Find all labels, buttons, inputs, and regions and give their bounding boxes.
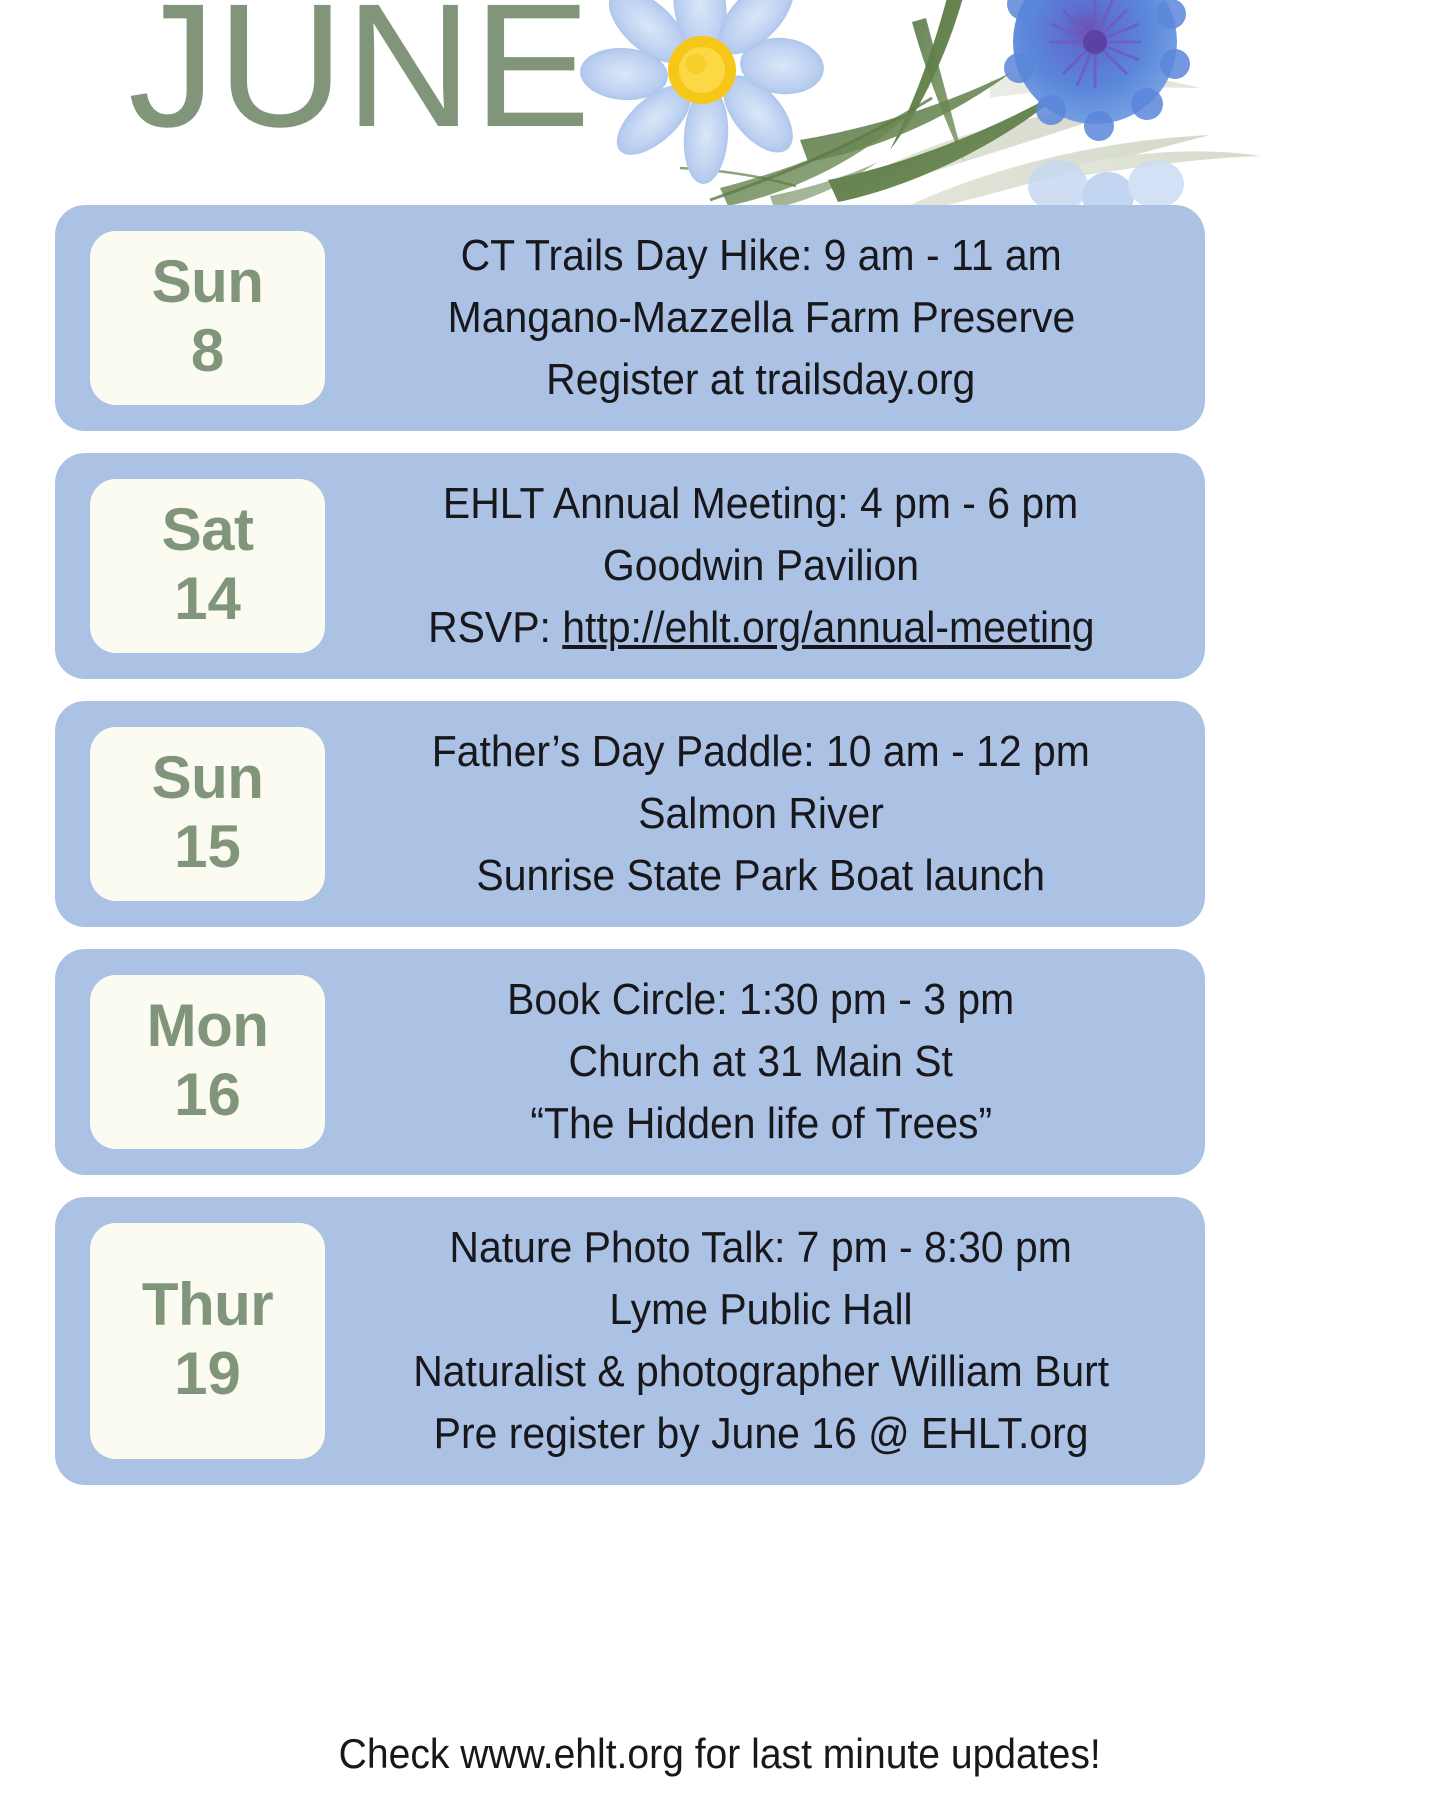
event-details: Father’s Day Paddle: 10 am - 12 pm Salmo…	[325, 715, 1205, 913]
event-detail-line: Nature Photo Talk: 7 pm - 8:30 pm	[450, 1217, 1072, 1279]
event-row[interactable]: Thur 19 Nature Photo Talk: 7 pm - 8:30 p…	[55, 1197, 1205, 1485]
day-of-week: Mon	[147, 992, 269, 1060]
event-detail-line-with-link: RSVP: http://ehlt.org/annual-meeting	[428, 597, 1094, 659]
event-detail-line: Church at 31 Main St	[569, 1031, 953, 1093]
day-of-week: Sat	[162, 496, 254, 564]
day-of-week: Sun	[152, 744, 264, 812]
date-card: Sun 8	[90, 231, 325, 405]
flyer-header: JUNE	[0, 0, 1440, 205]
event-detail-line: “The Hidden life of Trees”	[530, 1093, 992, 1155]
event-detail-line: Sunrise State Park Boat launch	[477, 845, 1046, 907]
event-row[interactable]: Sat 14 EHLT Annual Meeting: 4 pm - 6 pm …	[55, 453, 1205, 679]
event-row[interactable]: Mon 16 Book Circle: 1:30 pm - 3 pm Churc…	[55, 949, 1205, 1175]
calendar-flyer: JUNE	[0, 0, 1440, 1800]
day-number: 19	[174, 1339, 241, 1409]
day-of-week: Sun	[152, 248, 264, 316]
page-title: JUNE	[128, 0, 592, 154]
event-detail-line: Salmon River	[638, 783, 884, 845]
event-detail-line: Goodwin Pavilion	[603, 535, 919, 597]
day-number: 14	[174, 564, 241, 634]
event-detail-line: CT Trails Day Hike: 9 am - 11 am	[460, 225, 1061, 287]
event-detail-line: Register at trailsday.org	[546, 349, 975, 411]
cornflower-flower	[1004, 0, 1190, 141]
event-detail-line: Book Circle: 1:30 pm - 3 pm	[507, 969, 1014, 1031]
event-list: Sun 8 CT Trails Day Hike: 9 am - 11 am M…	[0, 205, 1440, 1507]
pale-leaves	[860, 73, 1260, 212]
day-of-week: Thur	[142, 1271, 273, 1339]
rsvp-label: RSVP:	[428, 603, 562, 652]
date-card: Sat 14	[90, 479, 325, 653]
blue-daisy-flower	[578, 0, 826, 185]
event-detail-line: Pre register by June 16 @ EHLT.org	[434, 1403, 1089, 1465]
day-number: 16	[174, 1060, 241, 1130]
event-detail-line: Father’s Day Paddle: 10 am - 12 pm	[432, 721, 1090, 783]
event-row[interactable]: Sun 15 Father’s Day Paddle: 10 am - 12 p…	[55, 701, 1205, 927]
event-detail-line: Mangano-Mazzella Farm Preserve	[447, 287, 1075, 349]
day-number: 8	[191, 316, 224, 386]
event-details: CT Trails Day Hike: 9 am - 11 am Mangano…	[325, 219, 1205, 417]
date-card: Mon 16	[90, 975, 325, 1149]
event-detail-line: EHLT Annual Meeting: 4 pm - 6 pm	[443, 473, 1078, 535]
footer: Check www.ehlt.org for last minute updat…	[0, 1726, 1440, 1782]
event-row[interactable]: Sun 8 CT Trails Day Hike: 9 am - 11 am M…	[55, 205, 1205, 431]
event-details: EHLT Annual Meeting: 4 pm - 6 pm Goodwin…	[325, 467, 1205, 665]
date-card: Thur 19	[90, 1223, 325, 1459]
rsvp-link[interactable]: http://ehlt.org/annual-meeting	[562, 603, 1094, 652]
date-card: Sun 15	[90, 727, 325, 901]
day-number: 15	[174, 812, 241, 882]
green-leaves	[680, 0, 1092, 208]
event-detail-line: Lyme Public Hall	[609, 1279, 912, 1341]
event-detail-line: Naturalist & photographer William Burt	[413, 1341, 1109, 1403]
footer-note: Check www.ehlt.org for last minute updat…	[339, 1726, 1101, 1782]
event-details: Book Circle: 1:30 pm - 3 pm Church at 31…	[325, 963, 1205, 1161]
event-details: Nature Photo Talk: 7 pm - 8:30 pm Lyme P…	[325, 1211, 1205, 1471]
watercolor-floral-decoration	[560, 0, 1260, 215]
